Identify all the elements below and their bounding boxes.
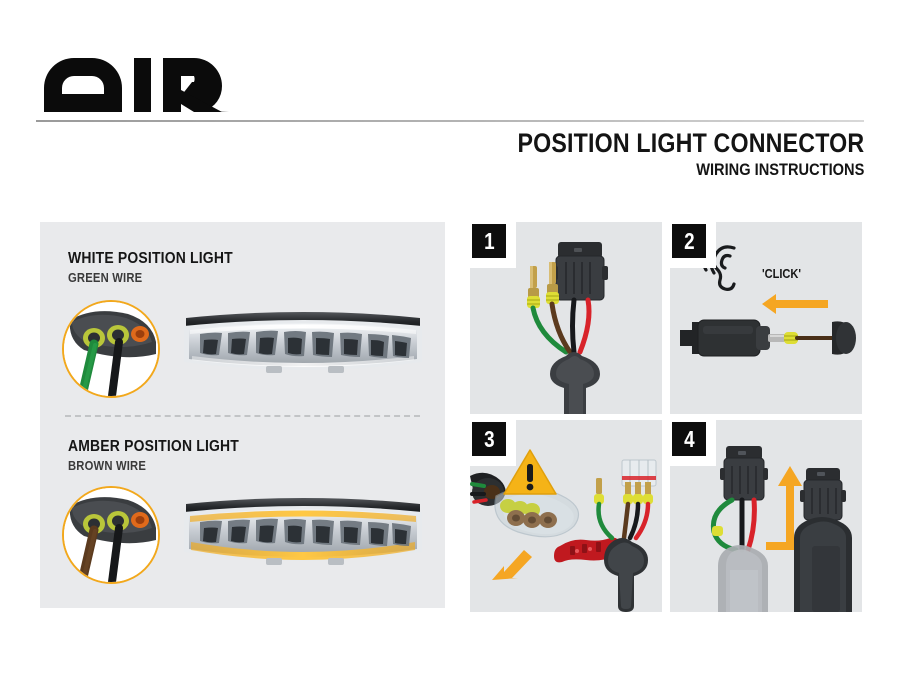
wire-red — [580, 300, 589, 352]
air-logo — [44, 58, 229, 113]
click-sound-label: 'CLICK' — [762, 266, 801, 281]
product-identification-panel: WHITE POSITION LIGHT GREEN WIRE — [40, 222, 445, 608]
page-title: POSITION LIGHT CONNECTOR — [517, 130, 864, 158]
white-light-heading-group: WHITE POSITION LIGHT GREEN WIRE — [68, 250, 251, 285]
amber-light-wire-label: BROWN WIRE — [68, 459, 239, 473]
page-header: POSITION LIGHT CONNECTOR WIRING INSTRUCT… — [0, 0, 900, 190]
step-1-badge-notch: 1 — [470, 222, 516, 268]
connector-closeup-green-wire-icon — [62, 300, 160, 398]
step-number-4: 4 — [684, 428, 694, 451]
page-subtitle: WIRING INSTRUCTIONS — [517, 161, 864, 180]
step-panel-1: 1 — [470, 222, 662, 414]
white-light-title: WHITE POSITION LIGHT — [68, 250, 233, 268]
loose-terminal-green — [527, 266, 540, 308]
step-4-badge-notch: 4 — [670, 420, 716, 466]
wire-black — [573, 300, 575, 352]
connector-exploded-right — [594, 460, 656, 612]
step-panel-4: 4 — [670, 420, 862, 612]
amber-light-heading-group: AMBER POSITION LIGHT BROWN WIRE — [68, 438, 258, 473]
instruction-sheet: POSITION LIGHT CONNECTOR WIRING INSTRUCT… — [0, 0, 900, 675]
section-divider — [65, 415, 420, 417]
step-number-badge-1: 1 — [472, 224, 506, 258]
step-panel-3: 3 — [470, 420, 662, 612]
led-light-bar-white-icon — [178, 304, 428, 388]
arrow-left-icon — [762, 294, 828, 314]
title-block: POSITION LIGHT CONNECTOR WIRING INSTRUCT… — [461, 130, 864, 179]
step-number-badge-3: 3 — [472, 422, 506, 456]
step-number-badge-2: 2 — [672, 224, 706, 258]
step-number-2: 2 — [684, 230, 694, 253]
white-light-wire-label: GREEN WIRE — [68, 271, 233, 285]
step-2-badge-notch: 2 — [670, 222, 716, 268]
step-number-3: 3 — [484, 428, 494, 451]
amber-light-title: AMBER POSITION LIGHT — [68, 438, 239, 456]
header-divider-rule — [36, 120, 864, 122]
step-number-1: 1 — [484, 230, 494, 253]
arrow-up-left-icon — [492, 550, 532, 580]
step-3-badge-notch: 3 — [470, 420, 516, 466]
step-number-badge-4: 4 — [672, 422, 706, 456]
step-panel-2: 'CLICK' 2 — [670, 222, 862, 414]
led-light-bar-amber-icon — [178, 490, 428, 580]
connector-closeup-brown-wire-icon — [62, 486, 160, 584]
